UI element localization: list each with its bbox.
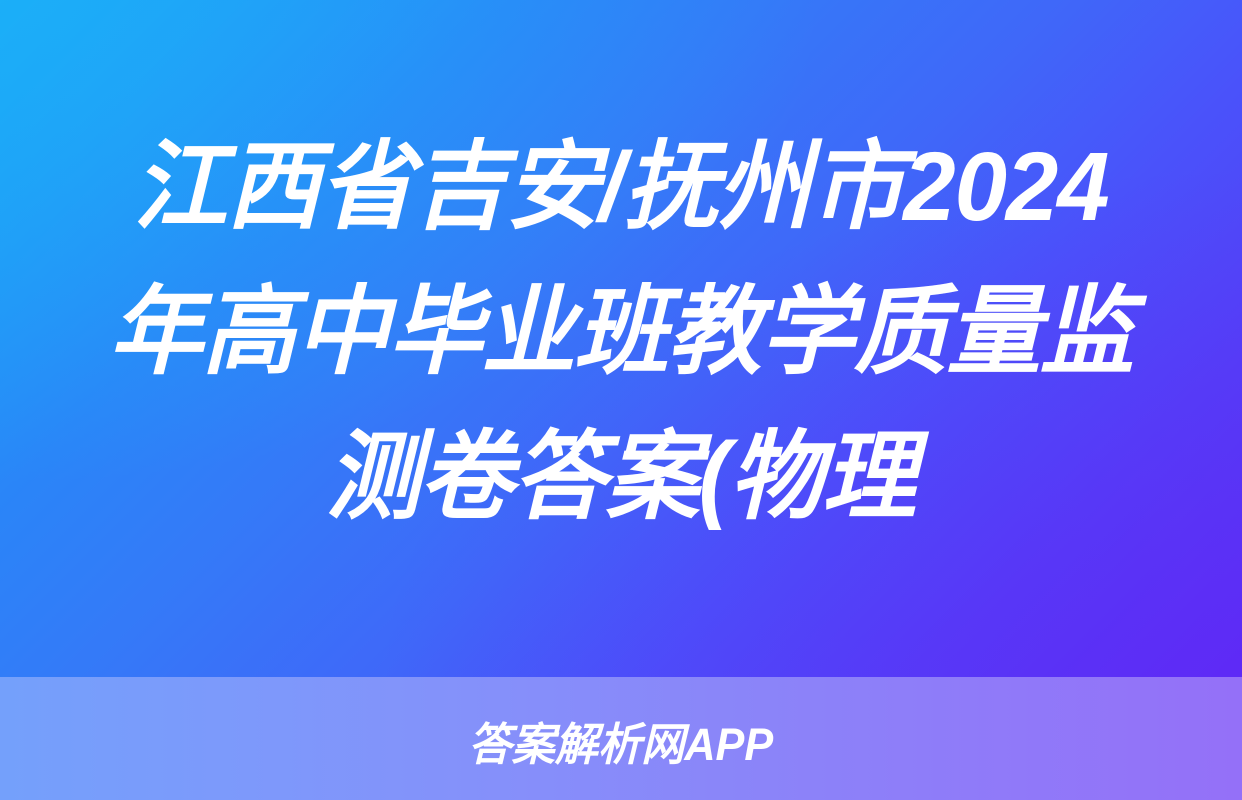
brand-watermark-label: 答案解析网APP bbox=[469, 708, 774, 773]
page-title-line-2: 年高中毕业班教学质量监 bbox=[109, 259, 1133, 404]
hero-gradient-panel: 江西省吉安/抚州市2024 年高中毕业班教学质量监 测卷答案(物理 bbox=[0, 0, 1242, 677]
screenshot-root: 江西省吉安/抚州市2024 年高中毕业班教学质量监 测卷答案(物理 答案解析网A… bbox=[0, 0, 1242, 800]
page-title: 江西省吉安/抚州市2024 年高中毕业班教学质量监 测卷答案(物理 bbox=[0, 0, 1242, 677]
page-title-line-1: 江西省吉安/抚州市2024 bbox=[133, 114, 1109, 259]
watermark-bar: 答案解析网APP bbox=[0, 677, 1242, 800]
page-title-line-3: 测卷答案(物理 bbox=[326, 404, 915, 549]
